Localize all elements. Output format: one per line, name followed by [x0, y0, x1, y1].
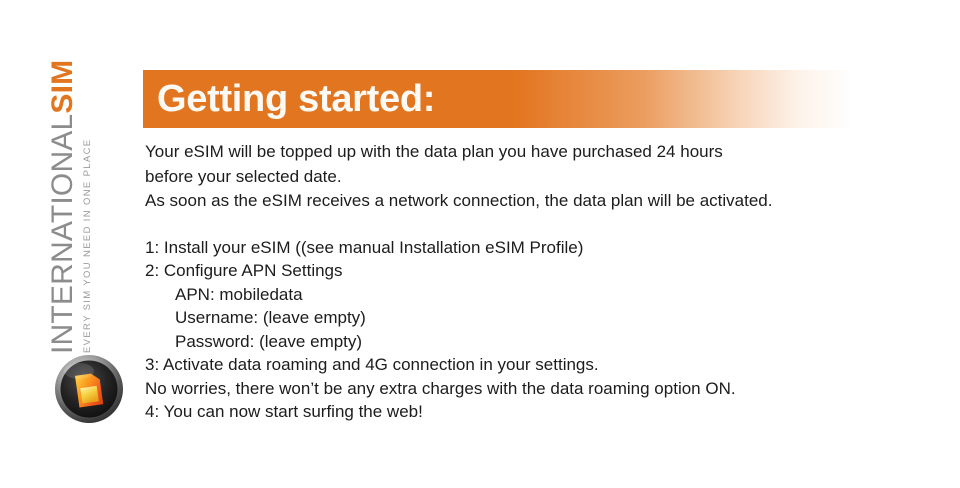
intro-line: Your eSIM will be topped up with the dat…	[145, 140, 925, 165]
step-item: 3: Activate data roaming and 4G connecti…	[145, 353, 925, 377]
header-banner: Getting started:	[143, 70, 855, 128]
step-item: 2: Configure APN Settings	[145, 259, 925, 283]
brand-wordmark: INTERNATIONALSIM	[48, 54, 78, 354]
page-title: Getting started:	[157, 80, 435, 118]
step-item-apn: APN: mobiledata	[145, 283, 925, 307]
intro-line: before your selected date.	[145, 165, 925, 190]
content-body: Your eSIM will be topped up with the dat…	[145, 140, 925, 424]
steps-list: 1: Install your eSIM ((see manual Instal…	[145, 236, 925, 424]
brand-wordmark-international: INTERNATIONAL	[46, 114, 79, 354]
intro-line: As soon as the eSIM receives a network c…	[145, 189, 925, 214]
sim-card-badge-icon	[54, 354, 124, 424]
step-item-username: Username: (leave empty)	[145, 306, 925, 330]
brand-wordmark-sim: SIM	[46, 60, 79, 114]
step-item: 1: Install your eSIM ((see manual Instal…	[145, 236, 925, 260]
step-item: 4: You can now start surfing the web!	[145, 400, 925, 424]
brand-tagline: EVERY SIM YOU NEED IN ONE PLACE	[82, 54, 93, 354]
step-note: No worries, there won’t be any extra cha…	[145, 377, 925, 401]
page-root: INTERNATIONALSIM EVERY SIM YOU NEED IN O…	[0, 0, 960, 488]
step-item-password: Password: (leave empty)	[145, 330, 925, 354]
brand-vertical-lockup: INTERNATIONALSIM EVERY SIM YOU NEED IN O…	[48, 54, 108, 354]
intro-paragraph: Your eSIM will be topped up with the dat…	[145, 140, 925, 214]
brand-rail: INTERNATIONALSIM EVERY SIM YOU NEED IN O…	[48, 62, 138, 432]
